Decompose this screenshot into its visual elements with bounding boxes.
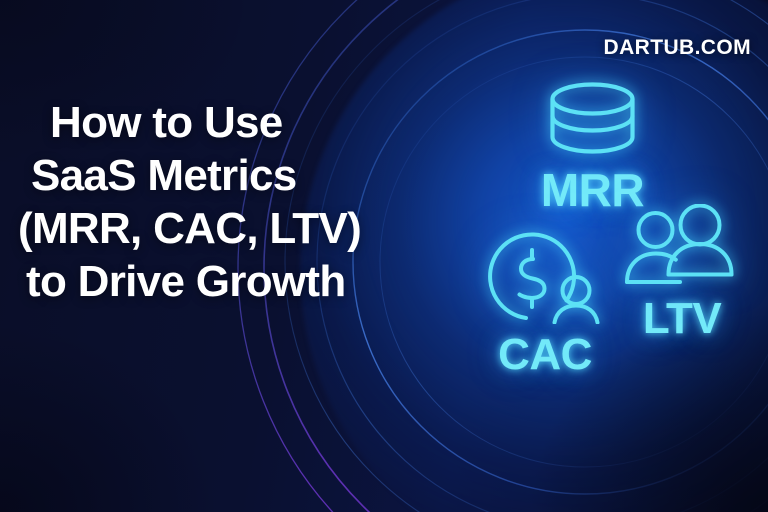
metric-ltv-label: LTV (612, 297, 752, 341)
title-line-2: SaaS Metrics (18, 149, 418, 202)
page-title: How to Use SaaS Metrics (MRR, CAC, LTV) … (18, 96, 418, 308)
title-line-3: (MRR, CAC, LTV) (18, 202, 418, 255)
metric-ltv: LTV (612, 204, 752, 341)
metric-cac: CAC (470, 224, 620, 377)
metric-cac-label: CAC (470, 333, 620, 377)
metric-mrr: MRR (505, 80, 680, 213)
database-icon (505, 80, 680, 161)
two-users-icon (612, 204, 752, 295)
site-logo[interactable]: DARTUB.COM (604, 36, 751, 60)
blog-banner-image: DARTUB.COM How to Use SaaS Metrics (MRR,… (0, 0, 768, 512)
title-line-4: to Drive Growth (18, 255, 418, 308)
title-line-1: How to Use (18, 96, 418, 149)
dollar-coin-user-icon (470, 224, 620, 329)
